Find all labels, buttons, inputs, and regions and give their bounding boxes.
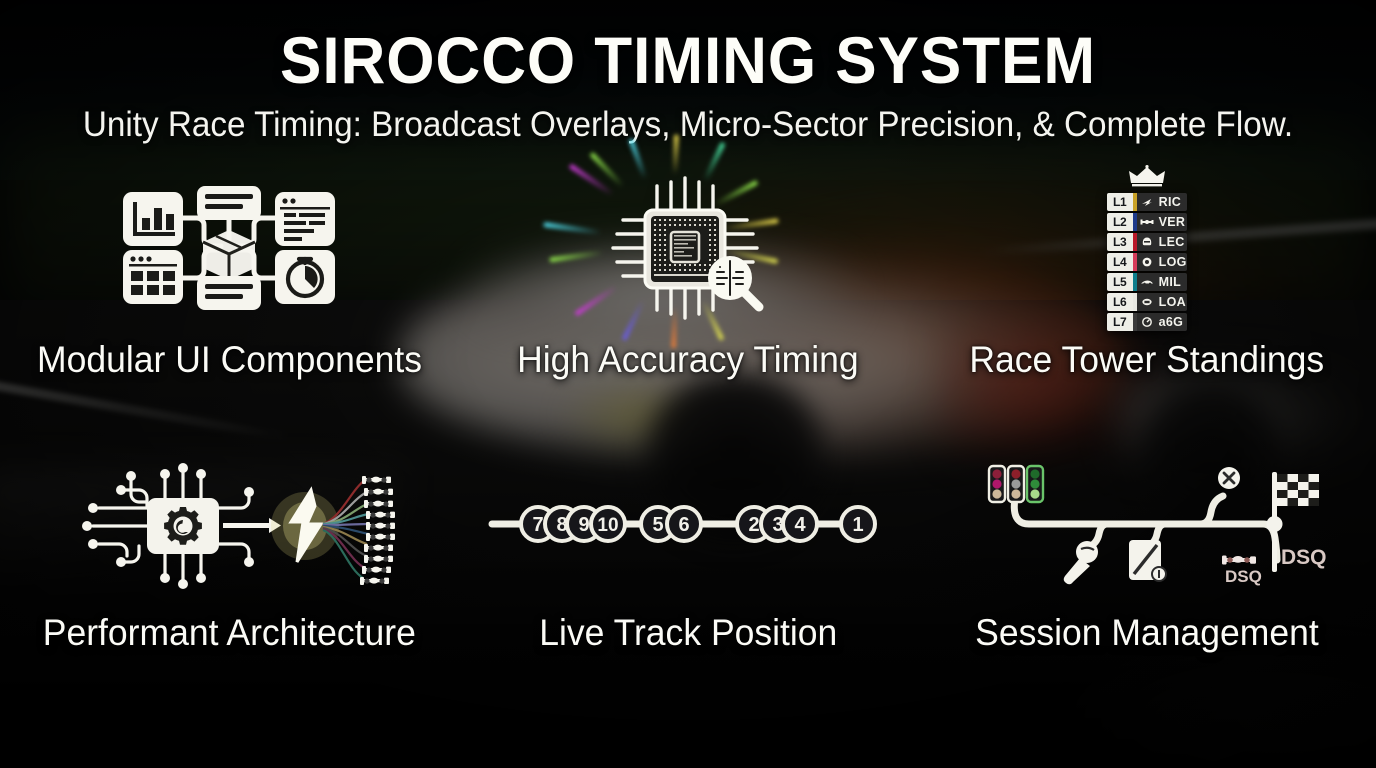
wheel-icon: [1137, 253, 1157, 271]
position-group-1: 7 8 9 10: [521, 507, 625, 541]
svg-text:4: 4: [794, 514, 806, 536]
radio-microphone-icon: [1063, 541, 1097, 584]
feature-caption: Session Management: [975, 612, 1319, 654]
row-driver-code: a6G: [1157, 313, 1187, 331]
car-fan-out-icon: [360, 476, 395, 585]
row-position: L5: [1107, 273, 1133, 291]
track-position-line-icon: 7 8 9 10 5 6: [459, 440, 918, 608]
svg-text:1: 1: [852, 514, 863, 536]
cpu-chip-magnifier-icon: [459, 160, 918, 335]
feature-grid: Modular UI Components: [0, 160, 1376, 720]
code-window-panel-icon: [275, 192, 335, 246]
helmet-icon: [1137, 233, 1157, 251]
slide-root: SIROCCO TIMING SYSTEM Unity Race Timing:…: [0, 0, 1376, 768]
race-tower-icon: L1 RIC L2 VER: [917, 160, 1376, 335]
circuit-gear-cars-icon: [0, 440, 459, 608]
retirement-cross-icon: [1218, 467, 1240, 489]
clock-icon: [1137, 313, 1157, 331]
row-driver-code: LOG: [1157, 253, 1187, 271]
page-subtitle: Unity Race Timing: Broadcast Overlays, M…: [34, 105, 1341, 145]
package-box-icon: [203, 230, 255, 280]
standings-row[interactable]: L3 LEC: [1107, 233, 1187, 251]
standings-row[interactable]: L4 LOG: [1107, 253, 1187, 271]
row-position: L2: [1107, 213, 1133, 231]
crown-icon: [1127, 165, 1167, 187]
svg-text:DSQ: DSQ: [1225, 567, 1262, 586]
svg-text:5: 5: [652, 514, 663, 536]
row-driver-code: LOA: [1157, 293, 1187, 311]
feature-session-management: DSQ DSQ Session Management: [917, 440, 1376, 720]
feature-caption: Performant Architecture: [43, 612, 416, 654]
position-group-3: 2 3 4: [737, 507, 817, 541]
feature-caption: Live Track Position: [539, 612, 837, 654]
feature-race-tower-standings: L1 RIC L2 VER: [917, 160, 1376, 440]
row-position: L4: [1107, 253, 1133, 271]
traffic-lights-icon: [989, 466, 1043, 502]
session-flow-icon: DSQ DSQ: [917, 440, 1376, 608]
car-side-icon: [1137, 273, 1157, 291]
svg-text:9: 9: [578, 514, 589, 536]
row-driver-code: MIL: [1157, 273, 1187, 291]
position-group-4: 1: [841, 507, 875, 541]
f1-car-icon: [1137, 213, 1157, 231]
feature-performant-architecture: Performant Architecture: [0, 440, 459, 720]
text-panel-top-icon: [197, 186, 261, 220]
svg-text:2: 2: [748, 514, 759, 536]
svg-text:6: 6: [678, 514, 689, 536]
standings-row[interactable]: L2 VER: [1107, 213, 1187, 231]
row-position: L3: [1107, 233, 1133, 251]
feature-caption: Modular UI Components: [37, 339, 422, 381]
standings-row[interactable]: L1 RIC: [1107, 193, 1187, 211]
standings-row[interactable]: L6 LOA: [1107, 293, 1187, 311]
feature-modular-ui-components: Modular UI Components: [0, 160, 459, 440]
page-title: SIROCCO TIMING SYSTEM: [41, 22, 1334, 98]
position-group-2: 5 6: [641, 507, 701, 541]
magnifier-icon: [709, 257, 759, 307]
stopwatch-panel-icon: [275, 250, 335, 304]
svg-text:7: 7: [532, 514, 543, 536]
standings-row[interactable]: L5 MIL: [1107, 273, 1187, 291]
row-driver-code: LEC: [1157, 233, 1187, 251]
penalty-notepad-icon: [1129, 540, 1166, 581]
standings-row[interactable]: L7 a6G: [1107, 313, 1187, 331]
row-position: L6: [1107, 293, 1133, 311]
feature-live-track-position: 7 8 9 10 5 6: [459, 440, 918, 720]
grid-table-panel-icon: [123, 250, 183, 304]
feature-high-accuracy-timing: High Accuracy Timing: [459, 160, 918, 440]
feature-caption: High Accuracy Timing: [517, 339, 859, 381]
row-driver-code: VER: [1157, 213, 1187, 231]
row-position: L7: [1107, 313, 1133, 331]
badge-icon: [1137, 293, 1157, 311]
feature-caption: Race Tower Standings: [969, 339, 1324, 381]
row-driver-code: RIC: [1157, 193, 1187, 211]
arrow-car-icon: [1137, 193, 1157, 211]
svg-text:10: 10: [597, 515, 618, 536]
standings-list: L1 RIC L2 VER: [1107, 193, 1187, 331]
text-panel-bottom-icon: [197, 276, 261, 310]
svg-text:DSQ: DSQ: [1281, 546, 1327, 569]
modular-ui-diagram-icon: [0, 160, 459, 335]
bar-chart-panel-icon: [123, 192, 183, 246]
row-position: L1: [1107, 193, 1133, 211]
